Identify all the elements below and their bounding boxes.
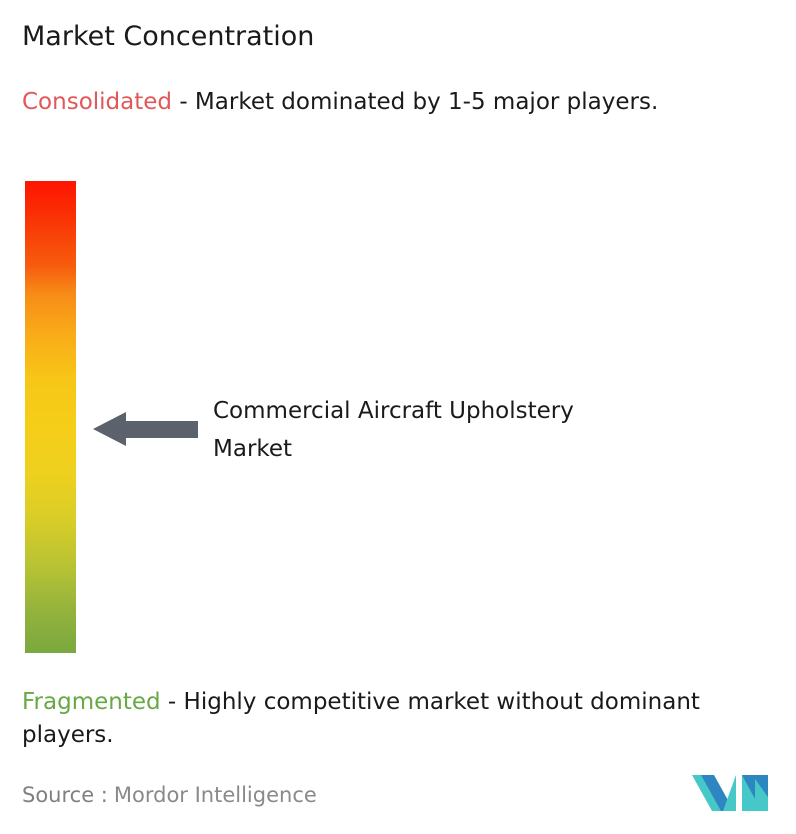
legend-consolidated-keyword: Consolidated — [22, 89, 172, 115]
arrow-head-icon — [93, 412, 126, 446]
market-concentration-infographic: Market Concentration Consolidated - Mark… — [0, 0, 796, 834]
legend-fragmented-keyword: Fragmented — [22, 689, 161, 715]
page-title: Market Concentration — [22, 20, 314, 54]
legend-fragmented: Fragmented - Highly competitive market w… — [22, 686, 788, 752]
market-position-arrow — [93, 412, 198, 446]
legend-consolidated-description: - Market dominated by 1-5 major players. — [172, 89, 658, 115]
source-value: Mordor Intelligence — [114, 783, 317, 807]
mordor-intelligence-logo-icon — [692, 769, 768, 817]
source-attribution: Source :Mordor Intelligence — [22, 782, 317, 808]
source-label: Source : — [22, 783, 108, 807]
legend-consolidated: Consolidated - Market dominated by 1-5 m… — [22, 86, 782, 119]
concentration-gradient-scale — [25, 181, 76, 653]
market-position-label: Commercial Aircraft Upholstery Market — [213, 392, 633, 468]
arrow-shaft — [125, 421, 198, 438]
